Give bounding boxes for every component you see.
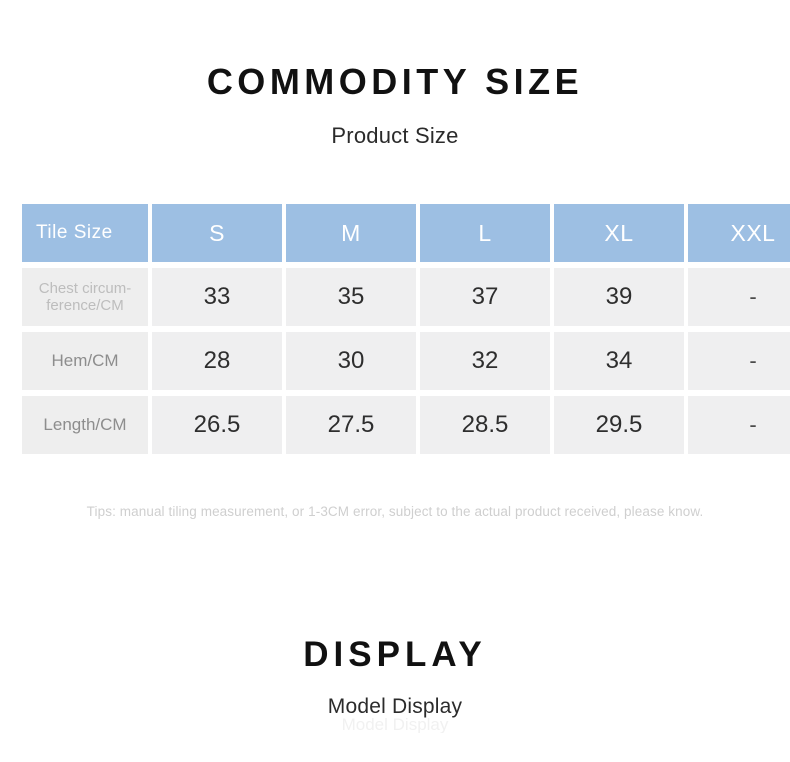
table-row: Length/CM 26.5 27.5 28.5 29.5 - (22, 396, 790, 454)
cell-length-xl: 29.5 (554, 396, 684, 454)
cell-hem-xxl: - (688, 332, 790, 390)
row-label-length: Length/CM (22, 396, 148, 454)
cell-hem-m: 30 (286, 332, 416, 390)
column-header-xl: XL (554, 204, 684, 262)
measurement-tips-note: Tips: manual tiling measurement, or 1-3C… (0, 505, 790, 519)
display-section-header: DISPLAY Model Display (0, 637, 790, 717)
column-header-tile-size: Tile Size (22, 204, 148, 262)
column-header-xxl: XXL (688, 204, 790, 262)
table-row: Chest circum- ference/CM 33 35 37 39 - (22, 268, 790, 326)
cell-length-m: 27.5 (286, 396, 416, 454)
row-label-line-1: Chest circum- (39, 280, 132, 297)
row-label-chest-circumference: Chest circum- ference/CM (22, 268, 148, 326)
commodity-size-subtitle: Product Size (0, 125, 790, 147)
size-chart-body: Chest circum- ference/CM 33 35 37 39 - H… (22, 268, 790, 454)
cell-chest-m: 35 (286, 268, 416, 326)
size-chart-table: Tile Size S M L XL XXL Chest circum- fer… (18, 198, 790, 460)
cell-length-s: 26.5 (152, 396, 282, 454)
row-label-line-1: Hem/CM (51, 351, 118, 370)
display-title: DISPLAY (0, 637, 790, 672)
table-header-row: Tile Size S M L XL XXL (22, 204, 790, 262)
column-header-l: L (420, 204, 550, 262)
cell-chest-s: 33 (152, 268, 282, 326)
display-subtitle-ghost: Model Display (0, 716, 790, 733)
cell-length-l: 28.5 (420, 396, 550, 454)
product-detail-page: COMMODITY SIZE Product Size Tile Size S … (0, 0, 790, 762)
size-chart-head: Tile Size S M L XL XXL (22, 204, 790, 262)
cell-length-xxl: - (688, 396, 790, 454)
display-subtitle: Model Display (0, 696, 790, 717)
row-label-line-2: ference/CM (46, 297, 124, 314)
commodity-size-section-header: COMMODITY SIZE Product Size (0, 64, 790, 147)
cell-hem-s: 28 (152, 332, 282, 390)
cell-hem-xl: 34 (554, 332, 684, 390)
column-header-m: M (286, 204, 416, 262)
cell-chest-xl: 39 (554, 268, 684, 326)
column-header-s: S (152, 204, 282, 262)
row-label-hem: Hem/CM (22, 332, 148, 390)
cell-hem-l: 32 (420, 332, 550, 390)
row-label-line-1: Length/CM (43, 415, 126, 434)
cell-chest-xxl: - (688, 268, 790, 326)
table-row: Hem/CM 28 30 32 34 - (22, 332, 790, 390)
cell-chest-l: 37 (420, 268, 550, 326)
commodity-size-title: COMMODITY SIZE (0, 64, 790, 100)
